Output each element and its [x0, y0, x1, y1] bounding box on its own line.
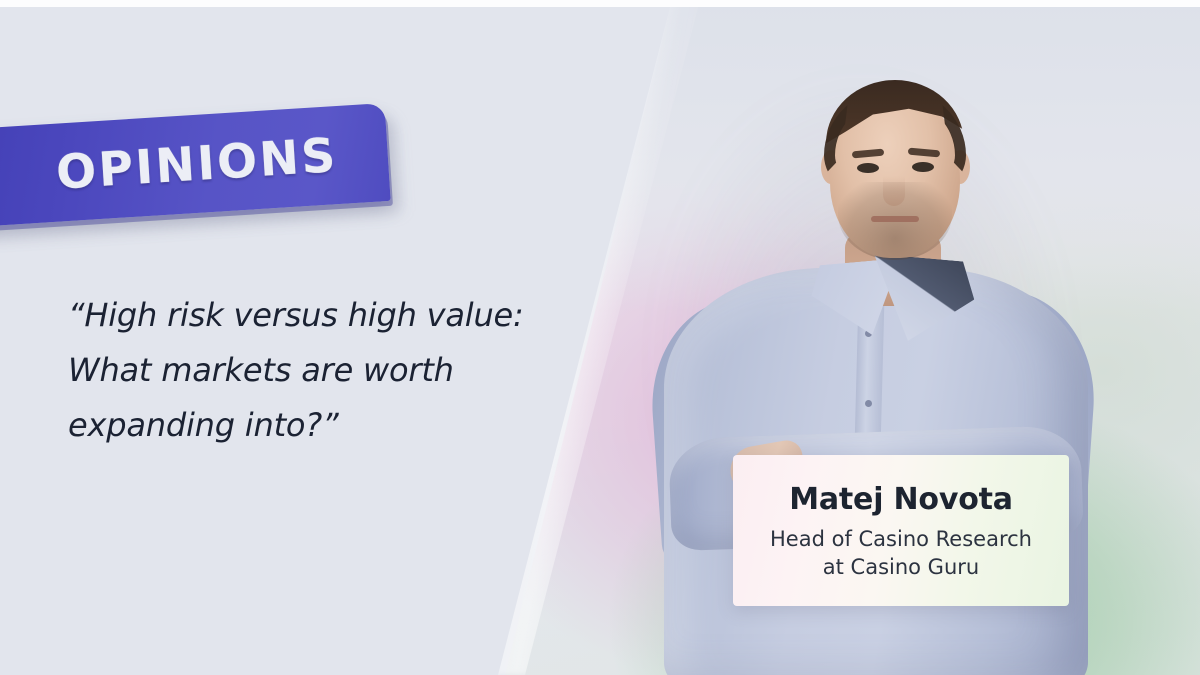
opinions-promo-graphic: OPINIONS “High risk versus high value: W… — [0, 0, 1200, 675]
top-white-strip — [0, 0, 1200, 7]
quote-line-1: “High risk versus high value: — [68, 288, 538, 343]
speaker-name-card: Matej Novota Head of Casino Research at … — [733, 455, 1069, 606]
speaker-name: Matej Novota — [789, 482, 1013, 517]
opinions-banner-label: OPINIONS — [55, 128, 340, 201]
portrait-eye-right — [912, 162, 934, 172]
portrait-eye-left — [857, 163, 879, 173]
portrait-shirt-button — [865, 400, 872, 407]
portrait-mouth — [871, 216, 919, 222]
speaker-role-line-1: Head of Casino Research — [770, 525, 1032, 553]
speaker-role-line-2: at Casino Guru — [823, 553, 979, 581]
quote-line-2: What markets are worth — [68, 343, 538, 398]
quote-text: “High risk versus high value: What marke… — [68, 288, 538, 453]
opinions-banner: OPINIONS — [0, 104, 400, 234]
quote-line-3: expanding into?” — [68, 398, 538, 453]
portrait-nose — [883, 176, 905, 206]
